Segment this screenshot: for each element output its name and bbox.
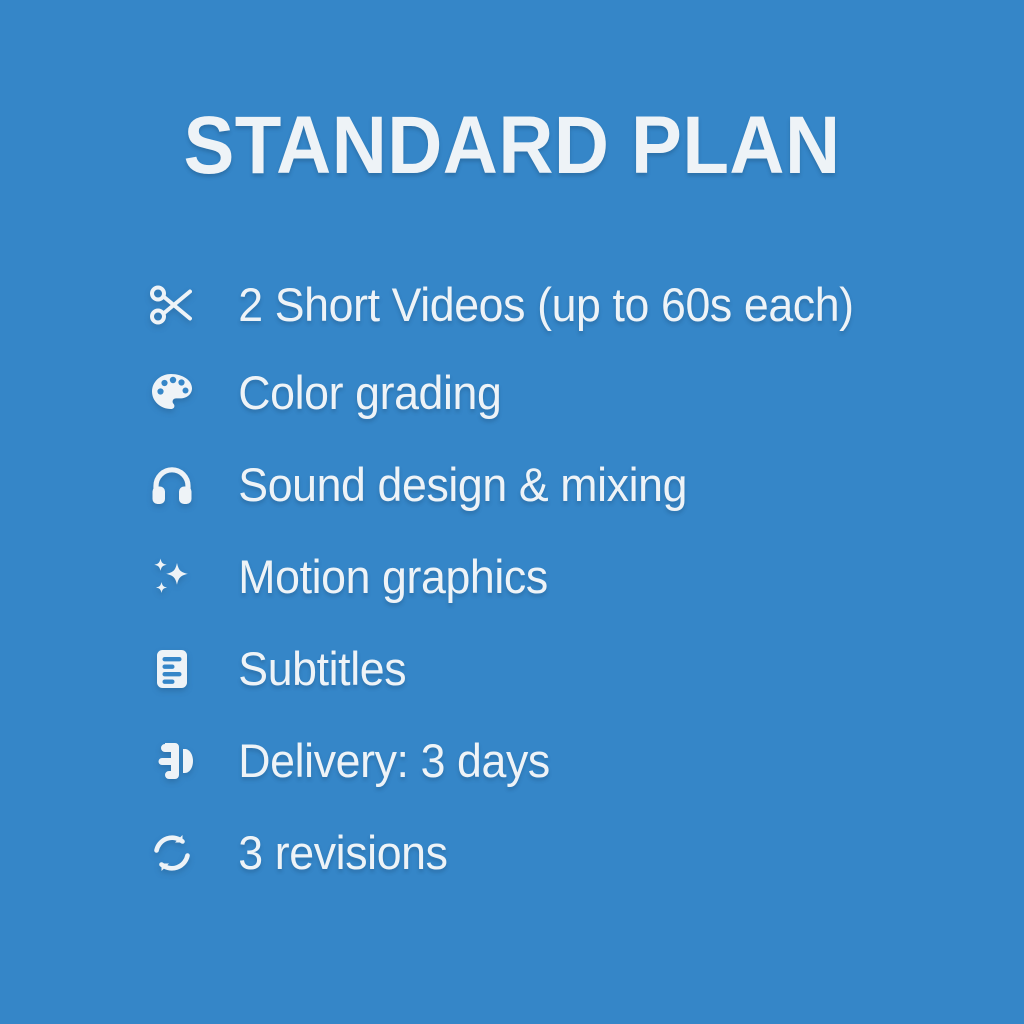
headphones-icon [148, 452, 206, 518]
list-item: Color grading [148, 360, 888, 426]
list-item-label: 2 Short Videos (up to 60s each) [206, 272, 854, 338]
list-item: Motion graphics [148, 544, 888, 610]
list-item-label: Subtitles [206, 636, 854, 702]
list-item-label: Delivery: 3 days [206, 728, 854, 794]
pricing-plan-card: STANDARD PLAN 2 Short Videos (up to 60s … [0, 0, 1024, 1024]
scissors-icon [148, 272, 206, 338]
sparkles-icon [148, 544, 206, 610]
list-item-label: 3 revisions [206, 820, 854, 886]
feature-list: 2 Short Videos (up to 60s each) Color gr… [148, 272, 888, 912]
page-title: STANDARD PLAN [36, 98, 988, 194]
subtitles-document-icon [148, 636, 206, 702]
list-item: Delivery: 3 days [148, 728, 888, 794]
refresh-revisions-icon [148, 820, 206, 886]
delivery-truck-icon [148, 728, 206, 794]
palette-icon [148, 360, 206, 426]
list-item: Subtitles [148, 636, 888, 702]
list-item-label: Color grading [206, 360, 854, 426]
list-item: Sound design & mixing [148, 452, 888, 518]
list-item: 3 revisions [148, 820, 888, 886]
list-item-label: Motion graphics [206, 544, 854, 610]
list-item-label: Sound design & mixing [206, 452, 854, 518]
list-item: 2 Short Videos (up to 60s each) [148, 272, 888, 338]
